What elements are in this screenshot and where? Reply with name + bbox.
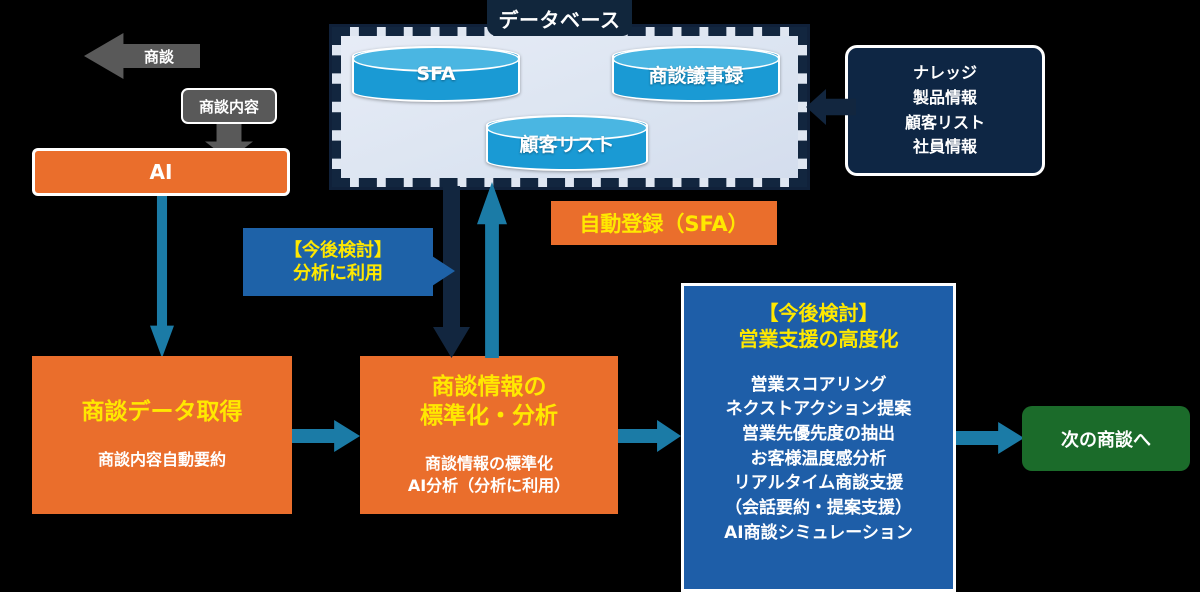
arrow-right-ai-support-to-next	[956, 422, 1024, 454]
process-title-line2: 標準化・分析	[420, 402, 558, 431]
database-cylinder-minutes: 商談議事録	[612, 46, 780, 102]
ai-box: AI	[32, 148, 290, 196]
process-title: 商談データ取得	[82, 398, 243, 427]
ai-support-item: （会話要約・提案支援）	[724, 496, 913, 521]
arrow-right-standardize-to-ai-support	[618, 420, 681, 452]
ai-support-box: 【今後検討】 営業支援の高度化 営業スコアリング ネクストアクション提案 営業先…	[681, 283, 956, 592]
callout-future-analysis: 【今後検討】 分析に利用	[243, 228, 433, 296]
knowledge-line: 社員情報	[913, 135, 977, 160]
cylinder-label: 商談議事録	[648, 61, 743, 88]
process-subtitle: 商談情報の標準化 AI分析（分析に利用）	[408, 453, 570, 498]
process-subtitle-line2: AI分析（分析に利用）	[408, 475, 570, 497]
ai-support-title-line1: 【今後検討】	[739, 300, 899, 326]
arrow-up-standardize-to-database	[477, 182, 507, 358]
knowledge-line: ナレッジ	[913, 61, 977, 86]
database-cylinder-customer-list: 顧客リスト	[486, 115, 648, 171]
ai-support-item: お客様温度感分析	[724, 447, 913, 472]
knowledge-line: 製品情報	[913, 86, 977, 111]
ai-support-item: リアルタイム商談支援	[724, 471, 913, 496]
callout-line2: 分析に利用	[284, 262, 392, 285]
knowledge-source-box: ナレッジ 製品情報 顧客リスト 社員情報	[845, 45, 1045, 176]
ai-support-item: 営業先優先度の抽出	[724, 422, 913, 447]
next-deal-box: 次の商談へ	[1022, 406, 1190, 471]
ai-support-item: 営業スコアリング	[724, 373, 913, 398]
process-box-standardize: 商談情報の 標準化・分析 商談情報の標準化 AI分析（分析に利用）	[360, 356, 618, 514]
auto-register-label: 自動登録（SFA）	[551, 201, 777, 245]
ai-support-title: 【今後検討】 営業支援の高度化	[739, 300, 899, 353]
process-subtitle-line1: 商談情報の標準化	[408, 453, 570, 475]
database-cylinder-sfa: SFA	[352, 46, 520, 102]
arrow-right-acquire-to-standardize	[292, 420, 360, 452]
knowledge-line: 顧客リスト	[905, 111, 985, 136]
process-title: 商談情報の 標準化・分析	[420, 373, 558, 431]
process-title-line1: 商談情報の	[420, 373, 558, 402]
deal-arrow-label: 商談	[118, 33, 200, 79]
ai-support-item: ネクストアクション提案	[724, 397, 913, 422]
process-box-acquire: 商談データ取得 商談内容自動要約	[32, 356, 292, 514]
ai-support-item: AI商談シミュレーション	[724, 521, 913, 546]
arrow-down-ai-to-acquire	[150, 196, 174, 358]
database-title-tab: データベース	[487, 0, 632, 36]
cylinder-label: SFA	[416, 63, 455, 85]
diagram-canvas: データベース SFA 商談議事録 顧客リスト ナレッジ 製品情報 顧客リスト 社…	[0, 0, 1200, 592]
process-subtitle: 商談内容自動要約	[98, 449, 226, 471]
callout-line1: 【今後検討】	[284, 239, 392, 262]
ai-support-item-list: 営業スコアリング ネクストアクション提案 営業先優先度の抽出 お客様温度感分析 …	[724, 373, 913, 545]
deal-content-box: 商談内容	[181, 88, 277, 124]
ai-support-title-line2: 営業支援の高度化	[739, 326, 899, 352]
cylinder-label: 顧客リスト	[519, 130, 614, 157]
deal-arrow-left: 商談	[84, 33, 200, 79]
